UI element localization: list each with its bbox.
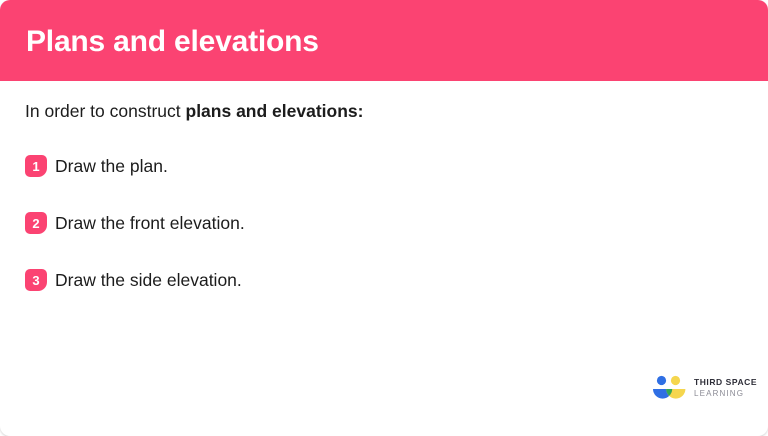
slide-header: Plans and elevations [0, 0, 768, 81]
logo-line-1: THIRD SPACE [694, 377, 756, 388]
intro-paragraph: In order to construct plans and elevatio… [25, 99, 363, 123]
logo-wordmark: THIRD SPACE LEARNING [694, 377, 756, 399]
third-space-learning-logo-mark [650, 373, 690, 405]
step-text: Draw the side elevation. [55, 268, 242, 292]
step-number-badge: 2 [25, 212, 47, 234]
logo-line-2: LEARNING [694, 388, 756, 399]
list-item: 2 Draw the front elevation. [25, 211, 245, 235]
page-title: Plans and elevations [26, 25, 319, 59]
list-item: 3 Draw the side elevation. [25, 268, 242, 292]
step-text: Draw the plan. [55, 154, 168, 178]
step-number-badge: 1 [25, 155, 47, 177]
slide-card: Plans and elevations In order to constru… [0, 0, 768, 436]
intro-bold-text: plans and elevations: [186, 101, 364, 121]
list-item: 1 Draw the plan. [25, 154, 168, 178]
step-text: Draw the front elevation. [55, 211, 245, 235]
intro-lead-text: In order to construct [25, 101, 186, 121]
brand-logo: THIRD SPACE LEARNING [650, 372, 750, 408]
step-number-badge: 3 [25, 269, 47, 291]
